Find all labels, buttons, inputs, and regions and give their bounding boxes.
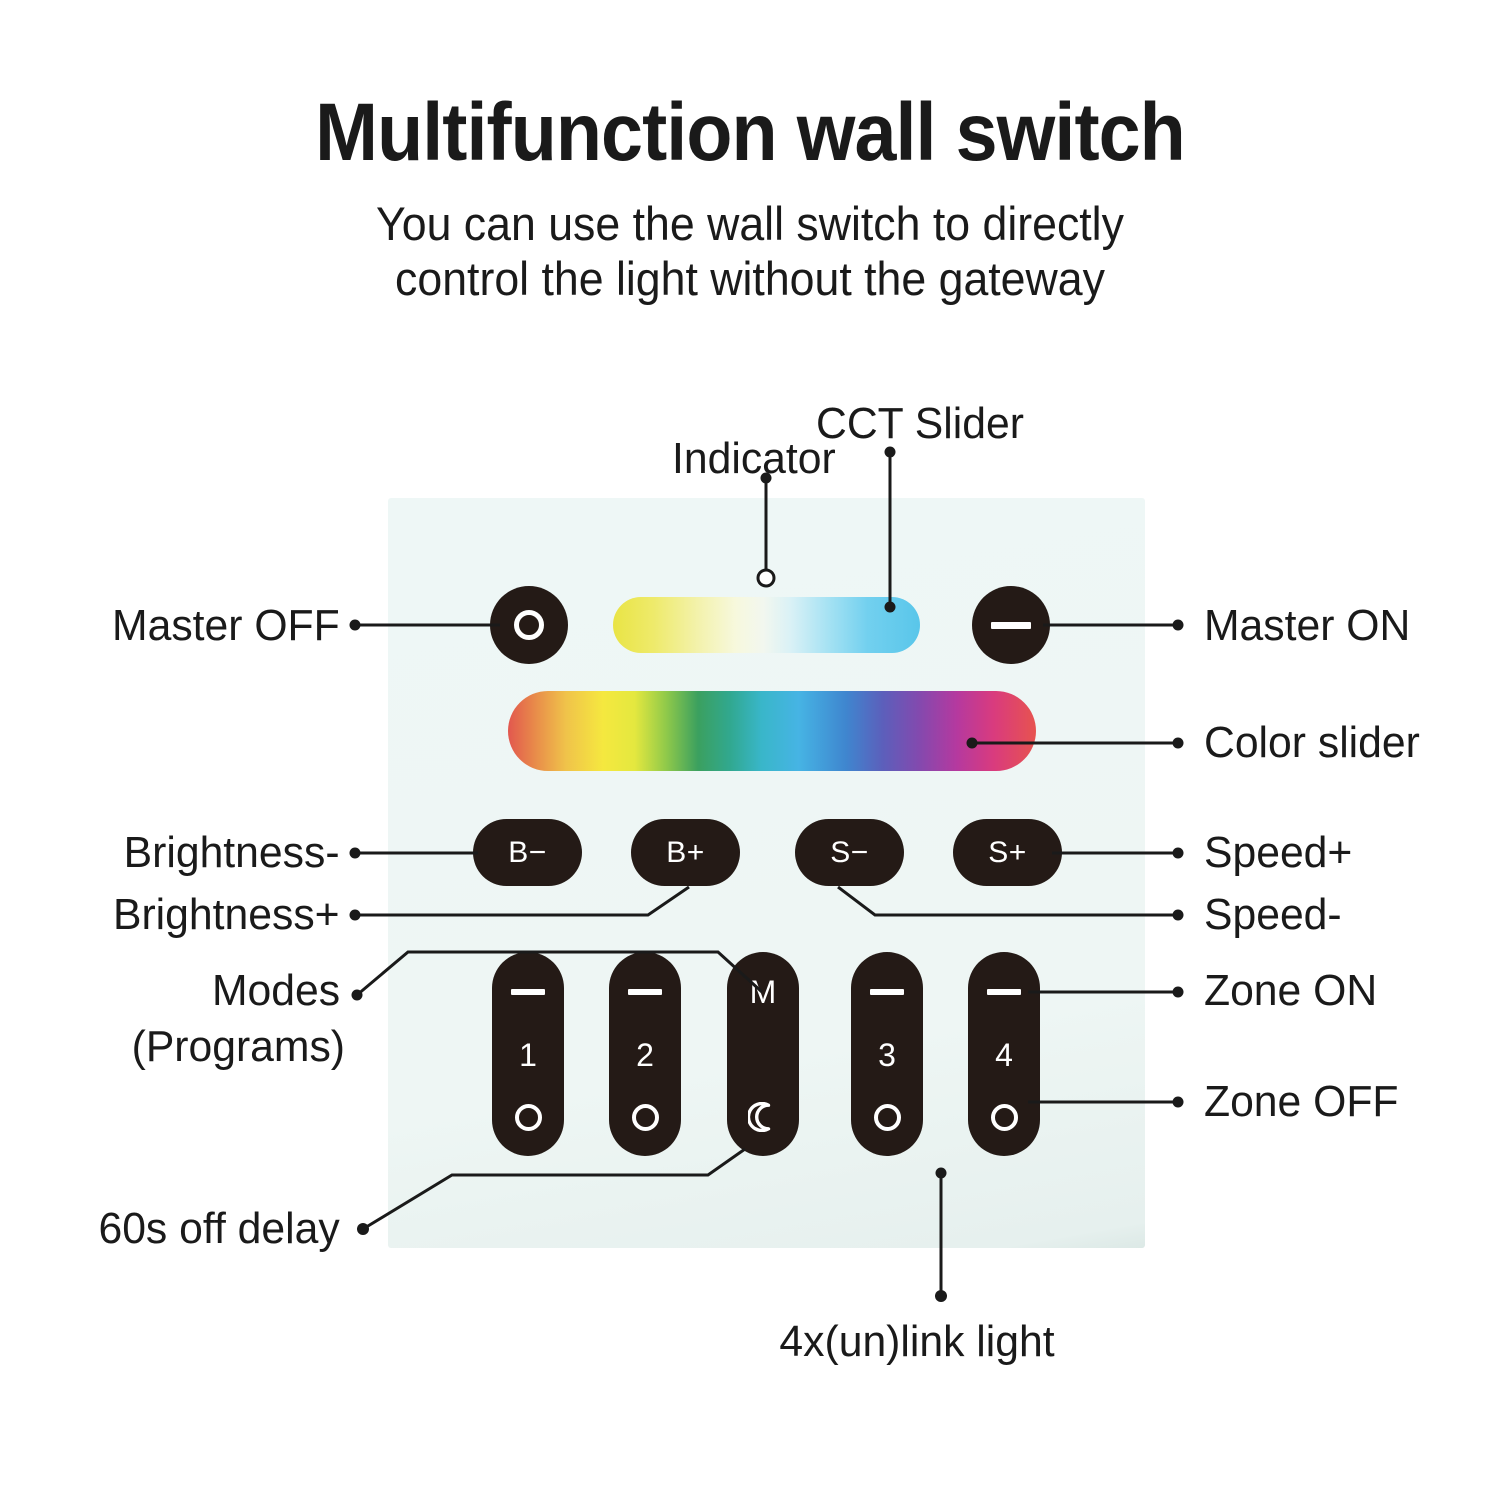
zone-on-slot-4[interactable] xyxy=(987,977,1021,1007)
leader-dot-master-off xyxy=(350,620,361,631)
label-zone-off: Zone OFF xyxy=(1204,1078,1398,1126)
zone-button-1[interactable]: 1 xyxy=(492,952,564,1156)
diagram-root: Multifunction wall switch You can use th… xyxy=(0,0,1500,1500)
label-brightness-up: Brightness+ xyxy=(113,891,340,939)
zone-number-1: 1 xyxy=(519,1039,537,1071)
zone-button-4[interactable]: 4 xyxy=(968,952,1040,1156)
circle-ring-icon xyxy=(874,1104,901,1131)
subtitle-line-1: You can use the wall switch to directly xyxy=(38,196,1463,251)
circle-ring-icon xyxy=(632,1104,659,1131)
circle-ring-icon xyxy=(514,610,544,640)
leader-dot-color-slider xyxy=(1173,738,1184,749)
cct-slider[interactable] xyxy=(613,597,920,653)
leader-dot-zone-on xyxy=(1173,987,1184,998)
zone-number-4: 4 xyxy=(995,1039,1013,1071)
master-on-button[interactable] xyxy=(972,586,1050,664)
zone-on-slot-2[interactable] xyxy=(628,977,662,1007)
leader-dot-master-on xyxy=(1173,620,1184,631)
speed-down-button[interactable]: S− xyxy=(795,819,904,886)
modes-button[interactable]: M . xyxy=(727,952,799,1156)
leader-dot-brightness-down xyxy=(350,848,361,859)
modes-slot[interactable]: M xyxy=(750,977,777,1007)
speed-up-button[interactable]: S+ xyxy=(953,819,1062,886)
zone-off-slot-2[interactable] xyxy=(632,1102,659,1132)
zone-number-2: 2 xyxy=(636,1039,654,1071)
leader-dot-brightness-up xyxy=(350,910,361,921)
subtitle-line-2: control the light without the gateway xyxy=(38,251,1463,306)
leader-dot-speed-down xyxy=(1173,910,1184,921)
zone-off-slot-1[interactable] xyxy=(515,1102,542,1132)
minus-dash-icon xyxy=(511,989,545,995)
page-subtitle: You can use the wall switch to directly … xyxy=(38,196,1463,307)
label-speed-down: Speed- xyxy=(1204,891,1342,939)
label-off-delay: 60s off delay xyxy=(99,1205,340,1253)
label-indicator: Indicator xyxy=(672,435,836,483)
moon-icon xyxy=(748,1102,778,1132)
color-slider[interactable] xyxy=(508,691,1036,771)
page-title: Multifunction wall switch xyxy=(60,92,1440,174)
leader-dot-zone-off xyxy=(1173,1097,1184,1108)
master-off-button[interactable] xyxy=(490,586,568,664)
label-modes: Modes xyxy=(212,967,340,1015)
brightness-up-button[interactable]: B+ xyxy=(631,819,740,886)
brightness-down-label: B− xyxy=(508,838,547,868)
label-color-slider: Color slider xyxy=(1204,719,1420,767)
zone-on-slot-3[interactable] xyxy=(870,977,904,1007)
zone-off-slot-4[interactable] xyxy=(991,1102,1018,1132)
speed-down-label: S− xyxy=(830,838,869,868)
circle-ring-icon xyxy=(991,1104,1018,1131)
circle-ring-icon xyxy=(515,1104,542,1131)
zone-button-2[interactable]: 2 xyxy=(609,952,681,1156)
zone-number-3: 3 xyxy=(878,1039,896,1071)
speed-up-label: S+ xyxy=(988,838,1027,868)
brightness-up-label: B+ xyxy=(666,838,705,868)
leader-dot-modes xyxy=(352,990,363,1001)
label-link-light: 4x(un)link light xyxy=(190,1318,1500,1366)
label-modes-programs: (Programs) xyxy=(132,1023,345,1071)
minus-dash-icon xyxy=(987,989,1021,995)
minus-dash-icon xyxy=(870,989,904,995)
label-speed-up: Speed+ xyxy=(1204,829,1352,877)
zone-button-3[interactable]: 3 xyxy=(851,952,923,1156)
minus-dash-icon xyxy=(628,989,662,995)
label-master-on: Master ON xyxy=(1204,602,1410,650)
leader-dot-speed-up xyxy=(1173,848,1184,859)
modes-key-label: M xyxy=(750,976,777,1008)
brightness-down-button[interactable]: B− xyxy=(473,819,582,886)
minus-dash-icon xyxy=(991,622,1031,629)
leader-dot-off-delay xyxy=(357,1223,369,1235)
zone-on-slot-1[interactable] xyxy=(511,977,545,1007)
off-delay-slot[interactable] xyxy=(748,1102,778,1132)
label-cct-slider: CCT Slider xyxy=(816,400,1024,448)
leader-dot-cct xyxy=(885,447,896,458)
leader-dot-link-light-bottom xyxy=(935,1290,947,1302)
label-zone-on: Zone ON xyxy=(1204,967,1377,1015)
label-master-off: Master OFF xyxy=(112,602,340,650)
zone-off-slot-3[interactable] xyxy=(874,1102,901,1132)
label-brightness-down: Brightness- xyxy=(124,829,340,877)
